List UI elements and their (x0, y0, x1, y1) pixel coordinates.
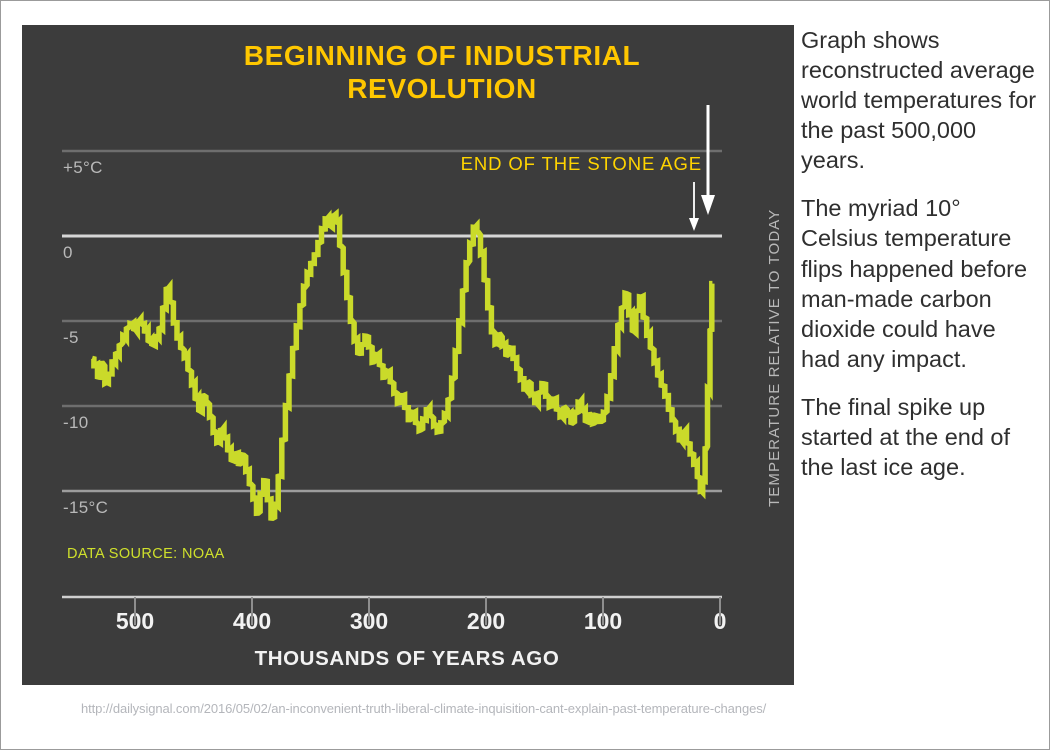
commentary-column: Graph shows reconstructed average world … (801, 25, 1039, 685)
chart-panel: BEGINNING OF INDUSTRIAL REVOLUTION END O… (22, 25, 794, 685)
industrial-revolution-arrow (701, 105, 715, 215)
x-axis (62, 597, 722, 625)
temperature-line (92, 214, 712, 518)
plot-area (22, 25, 794, 685)
commentary-paragraph-2: The myriad 10° Celsius temperature flips… (801, 193, 1039, 373)
temperature-series (92, 214, 712, 518)
infographic-page: BEGINNING OF INDUSTRIAL REVOLUTION END O… (0, 0, 1050, 750)
source-url: http://dailysignal.com/2016/05/02/an-inc… (81, 701, 766, 716)
commentary-paragraph-1: Graph shows reconstructed average world … (801, 25, 1039, 175)
stone-age-arrow (689, 182, 699, 231)
commentary-paragraph-3: The final spike up started at the end of… (801, 392, 1039, 482)
